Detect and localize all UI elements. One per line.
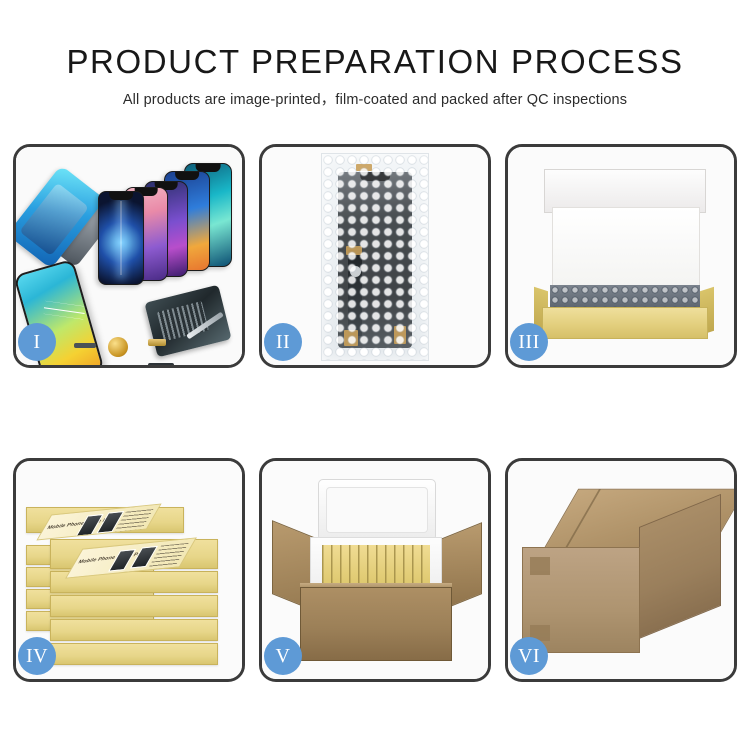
- tape-bottom-left-icon: [344, 330, 358, 346]
- stacked-box: [50, 619, 218, 641]
- part-cable-icon: [148, 363, 174, 365]
- step-6-badge: VI: [510, 637, 548, 675]
- bubble-wrap-bag-icon: [321, 153, 429, 361]
- yellow-boxes-inside-icon: [322, 545, 430, 587]
- stacked-box: [50, 643, 218, 665]
- labelled-box-top: Mobile Phone Spare Parts: [26, 507, 184, 533]
- retail-box-stack-icon: Mobile Phone Spare Parts Mobile Phone Sp…: [22, 479, 236, 669]
- sealed-carton-icon: [522, 483, 722, 655]
- step-5-badge: V: [264, 637, 302, 675]
- header: PRODUCT PREPARATION PROCESS All products…: [0, 0, 750, 109]
- process-step-6: VI: [505, 458, 737, 682]
- speaker-part-icon: [108, 337, 128, 357]
- foam-liner-icon: [552, 207, 700, 289]
- wrapped-connector-icon: [350, 266, 361, 277]
- page-title: PRODUCT PREPARATION PROCESS: [0, 42, 750, 82]
- open-inner-box-icon: [534, 169, 714, 339]
- tape-top-icon: [356, 164, 372, 171]
- wrapped-flex-cable-icon: [348, 250, 362, 336]
- carton-body-icon: [300, 587, 452, 661]
- process-step-5: V: [259, 458, 491, 682]
- step-4-badge: IV: [18, 637, 56, 675]
- carton-tape-upper-icon: [530, 557, 550, 575]
- part-connector-icon: [74, 343, 96, 348]
- open-carton-with-cooler-icon: [270, 475, 484, 671]
- phone-display-fan: [88, 161, 242, 289]
- box-label-card: Mobile Phone Spare Parts: [36, 504, 161, 541]
- process-step-1: I: [13, 144, 245, 368]
- tape-mid-icon: [346, 246, 362, 255]
- phone-display-blue-icon: [98, 191, 144, 285]
- labelled-box-front: Mobile Phone Spare Parts: [50, 539, 218, 569]
- process-step-3: III: [505, 144, 737, 368]
- foam-cooler-lid-icon: [318, 479, 436, 541]
- step-1-badge: I: [18, 323, 56, 361]
- process-step-4: Mobile Phone Spare Parts Mobile Phone Sp…: [13, 458, 245, 682]
- box-front-panel-icon: [542, 307, 708, 339]
- stacked-box: [50, 595, 218, 617]
- page-subtitle: All products are image-printed，film-coat…: [0, 88, 750, 109]
- step-3-badge: III: [510, 323, 548, 361]
- step-2-badge: II: [264, 323, 302, 361]
- tape-bottom-right-icon: [394, 326, 406, 344]
- process-step-grid: I II: [13, 144, 737, 690]
- part-gold-flex-icon: [148, 339, 166, 346]
- process-step-2: II: [259, 144, 491, 368]
- product-preparation-process-infographic: PRODUCT PREPARATION PROCESS All products…: [0, 0, 750, 750]
